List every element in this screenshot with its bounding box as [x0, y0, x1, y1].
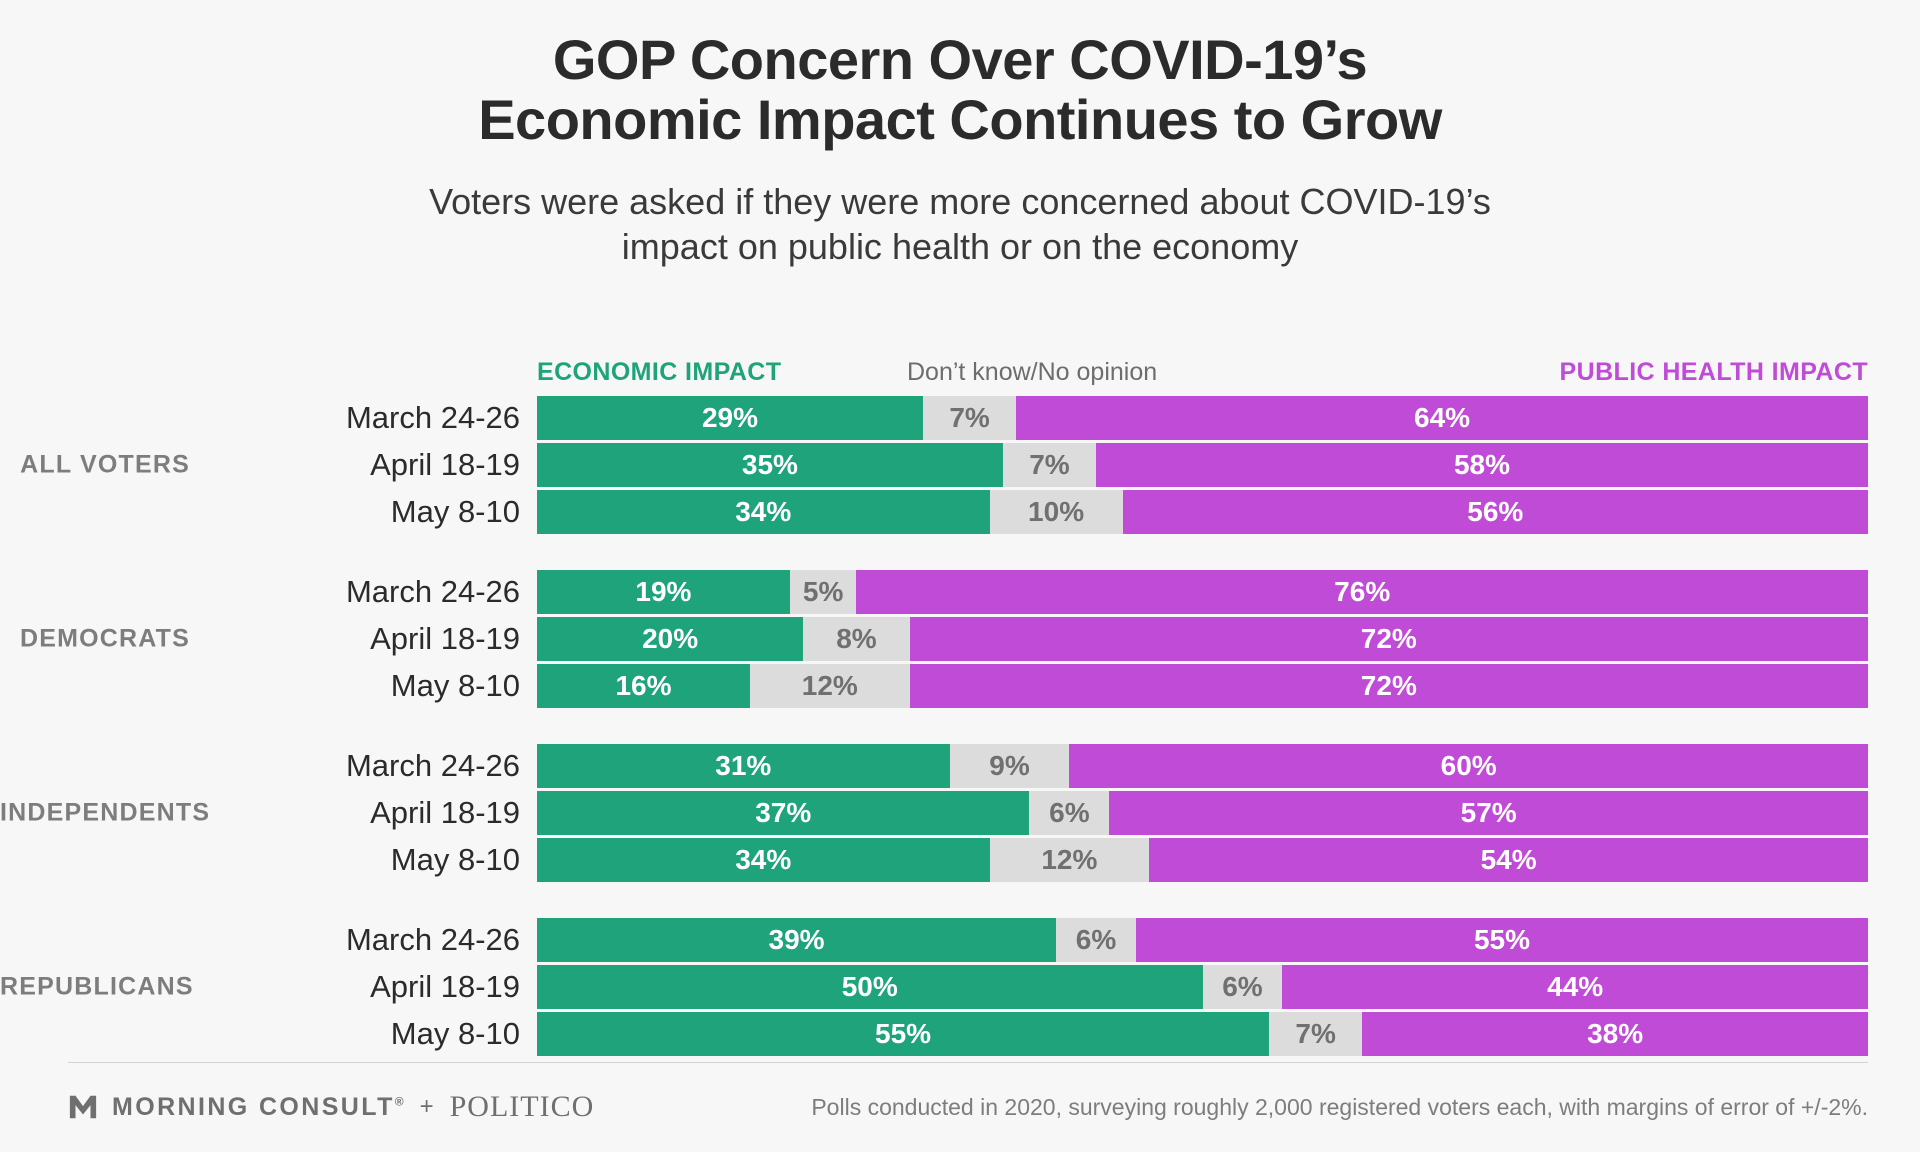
stacked-bar-track: 50%6%44%: [537, 965, 1868, 1009]
bar-segment-economic-impact: 39%: [537, 918, 1056, 962]
subtitle-line-2: impact on public health or on the econom…: [400, 224, 1520, 269]
row-label-date: May 8-10: [190, 494, 520, 530]
row-label-date: May 8-10: [190, 842, 520, 878]
brand-lockup: MORNING CONSULT® + POLITICO: [68, 1090, 594, 1124]
bar-segment-public-health-impact: 56%: [1123, 490, 1868, 534]
stacked-bar-track: 39%6%55%: [537, 918, 1868, 962]
bar-row: May 8-1034%12%54%: [0, 838, 1920, 882]
bar-segment-economic-impact: 20%: [537, 617, 803, 661]
bar-group-independents: INDEPENDENTSMarch 24-2631%9%60%April 18-…: [0, 744, 1920, 882]
bar-segment-dont-know: 5%: [790, 570, 857, 614]
bar-row: March 24-2619%5%76%: [0, 570, 1920, 614]
bar-segment-public-health-impact: 64%: [1016, 396, 1868, 440]
bar-segment-economic-impact: 34%: [537, 490, 990, 534]
bar-row: May 8-1055%7%38%: [0, 1012, 1920, 1056]
bar-segment-public-health-impact: 72%: [910, 664, 1868, 708]
registered-mark: ®: [395, 1094, 404, 1108]
bar-segment-public-health-impact: 54%: [1149, 838, 1868, 882]
bar-segment-economic-impact: 37%: [537, 791, 1029, 835]
bar-row: March 24-2629%7%64%: [0, 396, 1920, 440]
subtitle-line-1: Voters were asked if they were more conc…: [400, 179, 1520, 224]
page-subtitle: Voters were asked if they were more conc…: [400, 179, 1520, 269]
brand-politico: POLITICO: [450, 1090, 595, 1124]
bar-segment-public-health-impact: 57%: [1109, 791, 1868, 835]
bar-segment-economic-impact: 16%: [537, 664, 750, 708]
bar-row: May 8-1034%10%56%: [0, 490, 1920, 534]
bar-segment-dont-know: 8%: [803, 617, 909, 661]
group-rows: March 24-2619%5%76%April 18-1920%8%72%Ma…: [0, 570, 1920, 708]
page-title: GOP Concern Over COVID-19’s Economic Imp…: [310, 30, 1610, 151]
row-label-date: April 18-19: [190, 621, 520, 657]
title-line-2: Economic Impact Continues to Grow: [310, 90, 1610, 150]
title-line-1: GOP Concern Over COVID-19’s: [310, 30, 1610, 90]
bar-row: April 18-1920%8%72%: [0, 617, 1920, 661]
row-label-date: April 18-19: [190, 795, 520, 831]
bar-row: March 24-2631%9%60%: [0, 744, 1920, 788]
bar-segment-economic-impact: 31%: [537, 744, 950, 788]
bar-row: April 18-1937%6%57%: [0, 791, 1920, 835]
bar-segment-dont-know: 12%: [990, 838, 1150, 882]
bar-segment-economic-impact: 19%: [537, 570, 790, 614]
stacked-bar-track: 31%9%60%: [537, 744, 1868, 788]
stacked-bar-track: 37%6%57%: [537, 791, 1868, 835]
chart-header: GOP Concern Over COVID-19’s Economic Imp…: [0, 0, 1920, 269]
bar-group-republicans: REPUBLICANSMarch 24-2639%6%55%April 18-1…: [0, 918, 1920, 1056]
brand-morning-consult: MORNING CONSULT®: [112, 1093, 404, 1122]
stacked-bar-track: 19%5%76%: [537, 570, 1868, 614]
row-label-date: May 8-10: [190, 668, 520, 704]
bar-segment-dont-know: 6%: [1203, 965, 1283, 1009]
bar-segment-dont-know: 10%: [990, 490, 1123, 534]
bar-group-democrats: DEMOCRATSMarch 24-2619%5%76%April 18-192…: [0, 570, 1920, 708]
bar-group-all-voters: ALL VOTERSMarch 24-2629%7%64%April 18-19…: [0, 396, 1920, 534]
bar-segment-public-health-impact: 38%: [1362, 1012, 1868, 1056]
group-rows: March 24-2631%9%60%April 18-1937%6%57%Ma…: [0, 744, 1920, 882]
bar-segment-economic-impact: 35%: [537, 443, 1003, 487]
brand-plus-separator: +: [420, 1093, 434, 1121]
stacked-bar-track: 20%8%72%: [537, 617, 1868, 661]
chart-page: GOP Concern Over COVID-19’s Economic Imp…: [0, 0, 1920, 1152]
row-label-date: March 24-26: [190, 748, 520, 784]
stacked-bar-track: 55%7%38%: [537, 1012, 1868, 1056]
bar-segment-public-health-impact: 58%: [1096, 443, 1868, 487]
chart-body: ALL VOTERSMarch 24-2629%7%64%April 18-19…: [0, 396, 1920, 1056]
bar-row: April 18-1935%7%58%: [0, 443, 1920, 487]
stacked-bar-track: 34%10%56%: [537, 490, 1868, 534]
bar-segment-dont-know: 12%: [750, 664, 910, 708]
legend-item-economic-impact: ECONOMIC IMPACT: [537, 358, 781, 387]
bar-segment-public-health-impact: 72%: [910, 617, 1868, 661]
bar-segment-economic-impact: 34%: [537, 838, 990, 882]
bar-row: March 24-2639%6%55%: [0, 918, 1920, 962]
chart-footer: MORNING CONSULT® + POLITICO Polls conduc…: [68, 1082, 1868, 1132]
group-rows: March 24-2639%6%55%April 18-1950%6%44%Ma…: [0, 918, 1920, 1056]
row-label-date: April 18-19: [190, 969, 520, 1005]
bar-segment-public-health-impact: 60%: [1069, 744, 1868, 788]
row-label-date: May 8-10: [190, 1016, 520, 1052]
chart-legend: ECONOMIC IMPACT Don’t know/No opinion PU…: [537, 358, 1868, 392]
morning-consult-logo-icon: [68, 1092, 98, 1122]
stacked-bar-track: 29%7%64%: [537, 396, 1868, 440]
bar-segment-economic-impact: 55%: [537, 1012, 1269, 1056]
bar-segment-public-health-impact: 44%: [1282, 965, 1868, 1009]
bar-segment-dont-know: 7%: [1003, 443, 1096, 487]
legend-item-dont-know: Don’t know/No opinion: [907, 358, 1157, 387]
bar-segment-dont-know: 6%: [1029, 791, 1109, 835]
stacked-bar-track: 35%7%58%: [537, 443, 1868, 487]
footer-divider: [68, 1062, 1868, 1063]
bar-segment-dont-know: 6%: [1056, 918, 1136, 962]
footer-note: Polls conducted in 2020, surveying rough…: [811, 1094, 1868, 1121]
bar-segment-dont-know: 7%: [923, 396, 1016, 440]
stacked-bar-track: 16%12%72%: [537, 664, 1868, 708]
bar-segment-public-health-impact: 76%: [856, 570, 1868, 614]
row-label-date: April 18-19: [190, 447, 520, 483]
row-label-date: March 24-26: [190, 400, 520, 436]
bar-row: April 18-1950%6%44%: [0, 965, 1920, 1009]
row-label-date: March 24-26: [190, 922, 520, 958]
group-rows: March 24-2629%7%64%April 18-1935%7%58%Ma…: [0, 396, 1920, 534]
brand-morning-consult-text: MORNING CONSULT: [112, 1093, 395, 1121]
bar-segment-dont-know: 9%: [950, 744, 1070, 788]
bar-segment-economic-impact: 29%: [537, 396, 923, 440]
row-label-date: March 24-26: [190, 574, 520, 610]
stacked-bar-track: 34%12%54%: [537, 838, 1868, 882]
bar-row: May 8-1016%12%72%: [0, 664, 1920, 708]
bar-segment-dont-know: 7%: [1269, 1012, 1362, 1056]
bar-segment-public-health-impact: 55%: [1136, 918, 1868, 962]
legend-item-public-health-impact: PUBLIC HEALTH IMPACT: [1560, 358, 1868, 387]
bar-segment-economic-impact: 50%: [537, 965, 1203, 1009]
